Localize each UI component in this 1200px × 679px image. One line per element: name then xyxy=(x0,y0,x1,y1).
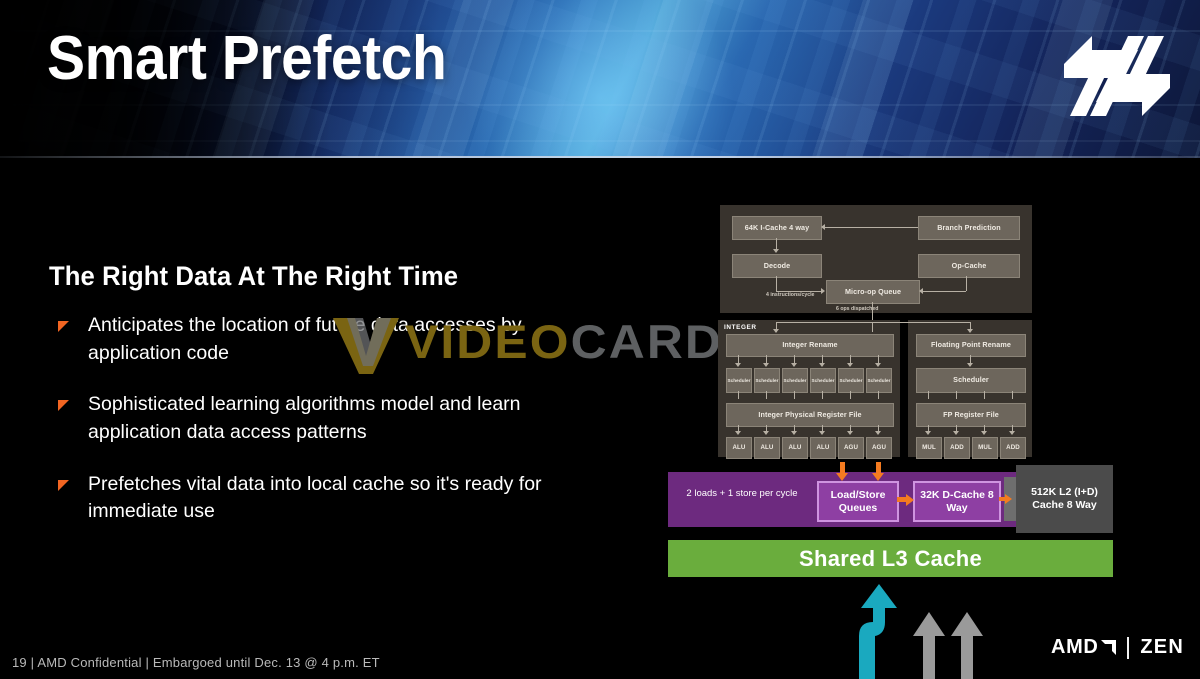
orange-arrowhead-agu1 xyxy=(836,473,848,481)
gray-arrow-icon xyxy=(950,610,984,679)
list-item: Sophisticated learning algorithms model … xyxy=(52,391,572,446)
block-microop-queue: Micro-op Queue xyxy=(826,280,920,304)
connector-dispatch-split-fp xyxy=(872,322,970,323)
arrowhead-unit xyxy=(791,431,797,435)
connector-bp-to-icache xyxy=(824,227,918,228)
connector-fp-sched-prf xyxy=(928,391,929,399)
block-fp-add: ADD xyxy=(944,437,970,459)
page-title: Smart Prefetch xyxy=(47,28,446,90)
block-integer-scheduler: Scheduler xyxy=(810,368,836,393)
connector-sched-prf xyxy=(738,391,739,399)
block-shared-l3-cache: Shared L3 Cache xyxy=(668,540,1113,577)
label-instructions-per-cycle: 4 instructions/cycle xyxy=(766,292,814,298)
connector-fp-sched-prf xyxy=(1012,391,1013,399)
arrowhead-fp-rename xyxy=(967,329,973,333)
block-agu: AGU xyxy=(838,437,864,459)
block-branch-prediction: Branch Prediction xyxy=(918,216,1020,240)
block-d-cache: 32K D-Cache 8 Way xyxy=(913,481,1001,522)
connector-sched-prf xyxy=(766,391,767,399)
bullet-triangle-icon xyxy=(58,400,69,411)
block-op-cache: Op-Cache xyxy=(918,254,1020,278)
amd-brand: AMD xyxy=(1051,636,1116,659)
arrowhead-fp-unit xyxy=(981,431,987,435)
block-fp-register-file: FP Register File xyxy=(916,403,1026,427)
block-alu: ALU xyxy=(782,437,808,459)
integer-section-label: INTEGER xyxy=(724,324,757,331)
block-integer-scheduler: Scheduler xyxy=(754,368,780,393)
arrowhead-unit xyxy=(875,431,881,435)
orange-arrowhead-agu2 xyxy=(872,473,884,481)
connector-fp-sched-prf xyxy=(956,391,957,399)
bullet-list: Anticipates the location of future data … xyxy=(52,312,572,550)
arrowhead-sched xyxy=(847,363,853,367)
orange-arrowhead-l2 xyxy=(1005,494,1012,504)
header-divider xyxy=(0,156,1200,158)
bullet-triangle-icon xyxy=(58,321,69,332)
prefetch-double-arrow-icon xyxy=(1062,26,1172,126)
arrowhead-queue-right xyxy=(919,288,923,294)
block-agu: AGU xyxy=(866,437,892,459)
section-subheading: The Right Data At The Right Time xyxy=(49,261,458,292)
connector-decode-to-queue xyxy=(776,291,822,292)
teal-prefetch-arrow-icon xyxy=(845,578,905,679)
block-l2-cache: 512K L2 (I+D) Cache 8 Way xyxy=(1016,465,1113,533)
connector-sched-prf xyxy=(794,391,795,399)
block-fp-rename: Floating Point Rename xyxy=(916,334,1026,357)
logo-divider xyxy=(1127,637,1129,659)
slide-header: Smart Prefetch xyxy=(0,0,1200,158)
connector-dispatch-to-fp xyxy=(872,322,873,332)
block-decode: Decode xyxy=(732,254,822,278)
connector-sched-prf xyxy=(850,391,851,399)
arrowhead-fp-unit xyxy=(953,431,959,435)
arrowhead-sched xyxy=(735,363,741,367)
arrowhead-fp-unit xyxy=(925,431,931,435)
zen-core-block-diagram: 64K I-Cache 4 way Branch Prediction Deco… xyxy=(660,200,1130,600)
arrowhead-fp-unit xyxy=(1009,431,1015,435)
block-alu: ALU xyxy=(810,437,836,459)
arrowhead-sched xyxy=(875,363,881,367)
connector-opcache-to-queue xyxy=(922,291,966,292)
connector-queue-dispatch xyxy=(872,302,873,322)
bullet-text: Anticipates the location of future data … xyxy=(88,314,522,364)
block-fp-mul: MUL xyxy=(916,437,942,459)
arrowhead-fp-sched xyxy=(967,363,973,367)
amd-arrow-icon xyxy=(1101,640,1116,655)
block-integer-register-file: Integer Physical Register File xyxy=(726,403,894,427)
block-integer-scheduler: Scheduler xyxy=(726,368,752,393)
arrowhead-int-rename xyxy=(773,329,779,333)
block-integer-rename: Integer Rename xyxy=(726,334,894,357)
connector-sched-prf xyxy=(822,391,823,399)
connector-decode-down xyxy=(776,276,777,291)
arrowhead-sched xyxy=(791,363,797,367)
amd-zen-logo: AMD ZEN xyxy=(1051,636,1184,659)
arrowhead-unit xyxy=(763,431,769,435)
gray-arrow-icon xyxy=(912,610,946,679)
slide: Smart Prefetch The Right Data At The Rig… xyxy=(0,0,1200,679)
connector-sched-prf xyxy=(878,391,879,399)
connector-dispatch-split-int xyxy=(776,322,873,323)
block-fp-mul: MUL xyxy=(972,437,998,459)
arrowhead-queue-left xyxy=(821,288,825,294)
block-fp-scheduler: Scheduler xyxy=(916,368,1026,393)
bullet-text: Sophisticated learning algorithms model … xyxy=(88,393,521,443)
arrowhead-unit xyxy=(819,431,825,435)
arrowhead-sched xyxy=(819,363,825,367)
amd-brand-text: AMD xyxy=(1051,636,1098,659)
bullet-text: Prefetches vital data into local cache s… xyxy=(88,473,542,523)
block-integer-scheduler: Scheduler xyxy=(838,368,864,393)
arrowhead-unit xyxy=(735,431,741,435)
block-alu: ALU xyxy=(754,437,780,459)
arrowhead-icache xyxy=(821,224,825,230)
arrowhead-decode xyxy=(773,249,779,253)
bullet-triangle-icon xyxy=(58,480,69,491)
block-alu: ALU xyxy=(726,437,752,459)
block-fp-add: ADD xyxy=(1000,437,1026,459)
arrowhead-unit xyxy=(847,431,853,435)
block-integer-scheduler: Scheduler xyxy=(782,368,808,393)
block-load-store-queues: Load/Store Queues xyxy=(817,481,899,522)
connector-fp-sched-prf xyxy=(984,391,985,399)
block-integer-scheduler: Scheduler xyxy=(866,368,892,393)
footer-confidential-text: 19 | AMD Confidential | Embargoed until … xyxy=(12,655,380,670)
block-icache: 64K I-Cache 4 way xyxy=(732,216,822,240)
list-item: Anticipates the location of future data … xyxy=(52,312,572,367)
orange-arrowhead-dcache xyxy=(906,494,914,506)
zen-brand-text: ZEN xyxy=(1140,636,1184,659)
list-item: Prefetches vital data into local cache s… xyxy=(52,471,572,526)
memory-throughput-note: 2 loads + 1 store per cycle xyxy=(682,488,802,500)
arrowhead-sched xyxy=(763,363,769,367)
connector-fp-rename-sched xyxy=(970,355,971,363)
connector-opcache-down xyxy=(966,276,967,291)
